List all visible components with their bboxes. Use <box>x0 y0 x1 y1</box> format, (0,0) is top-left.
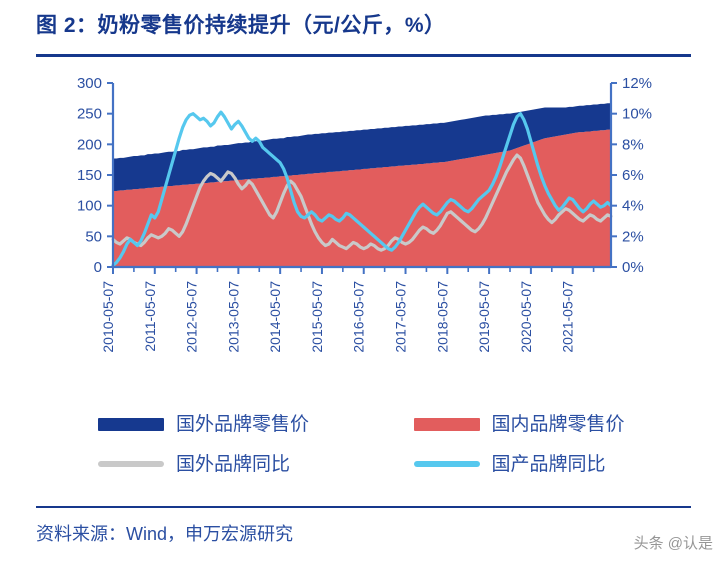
y-tick-label-left: 250 <box>77 106 102 123</box>
y-tick-label-left: 50 <box>85 228 102 245</box>
legend-label-foreign-price: 国外品牌零售价 <box>176 415 309 434</box>
legend-swatch-domestic-price <box>414 418 480 431</box>
watermark-label: 头条 @认是 <box>634 532 713 553</box>
legend-swatch-domestic-yoy <box>414 461 480 467</box>
chart-area: 0501001502002503000%2%4%6%8%10%12%2010-0… <box>36 66 691 396</box>
source-note: 资料来源：Wind，申万宏源研究 <box>36 520 293 546</box>
legend-label-domestic-yoy: 国产品牌同比 <box>492 455 606 474</box>
y-tick-label-right: 0% <box>622 259 644 276</box>
x-tick-label: 2021-05-07 <box>560 281 576 353</box>
y-tick-label-left: 150 <box>77 167 102 184</box>
chart-title-block: 图 2：奶粉零售价持续提升（元/公斤，%） <box>36 12 691 40</box>
legend-item-foreign-yoy[interactable]: 国外品牌同比 <box>36 455 364 474</box>
y-tick-label-right: 12% <box>622 75 652 92</box>
legend-label-domestic-price: 国内品牌零售价 <box>492 415 625 434</box>
legend-item-domestic-price[interactable]: 国内品牌零售价 <box>364 415 692 434</box>
legend-swatch-foreign-price <box>98 418 164 431</box>
chart-svg: 0501001502002503000%2%4%6%8%10%12%2010-0… <box>36 66 691 396</box>
y-tick-label-left: 0 <box>94 259 102 276</box>
legend-row-2: 国外品牌同比 国产品牌同比 <box>36 444 691 484</box>
x-tick-label: 2018-05-07 <box>434 281 450 353</box>
x-tick-label: 2020-05-07 <box>518 281 534 353</box>
title-divider <box>36 54 691 57</box>
y-tick-label-right: 10% <box>622 106 652 123</box>
legend-label-foreign-yoy: 国外品牌同比 <box>176 455 290 474</box>
y-tick-label-right: 2% <box>622 228 644 245</box>
x-tick-label: 2010-05-07 <box>100 281 116 353</box>
y-tick-label-right: 6% <box>622 167 644 184</box>
legend-row-1: 国外品牌零售价 国内品牌零售价 <box>36 404 691 444</box>
x-tick-label: 2013-05-07 <box>225 281 241 353</box>
x-tick-label: 2016-05-07 <box>351 281 367 353</box>
x-tick-label: 2014-05-07 <box>267 281 283 353</box>
x-tick-label: 2012-05-07 <box>184 281 200 353</box>
x-tick-label: 2015-05-07 <box>309 281 325 353</box>
y-tick-label-right: 4% <box>622 198 644 215</box>
y-tick-label-left: 200 <box>77 136 102 153</box>
page-title: 图 2：奶粉零售价持续提升（元/公斤，%） <box>36 12 691 40</box>
legend-item-domestic-yoy[interactable]: 国产品牌同比 <box>364 455 692 474</box>
chart-legend: 国外品牌零售价 国内品牌零售价 国外品牌同比 国产品牌同比 <box>36 404 691 490</box>
y-tick-label-left: 100 <box>77 198 102 215</box>
footer-divider <box>36 506 691 508</box>
y-tick-label-left: 300 <box>77 75 102 92</box>
x-tick-label: 2019-05-07 <box>476 281 492 353</box>
figure-container: 图 2：奶粉零售价持续提升（元/公斤，%） 050100150200250300… <box>0 0 727 565</box>
legend-item-foreign-price[interactable]: 国外品牌零售价 <box>36 415 364 434</box>
x-tick-label: 2017-05-07 <box>393 281 409 353</box>
x-tick-label: 2011-05-07 <box>142 281 158 352</box>
legend-swatch-foreign-yoy <box>98 461 164 467</box>
y-tick-label-right: 8% <box>622 136 644 153</box>
